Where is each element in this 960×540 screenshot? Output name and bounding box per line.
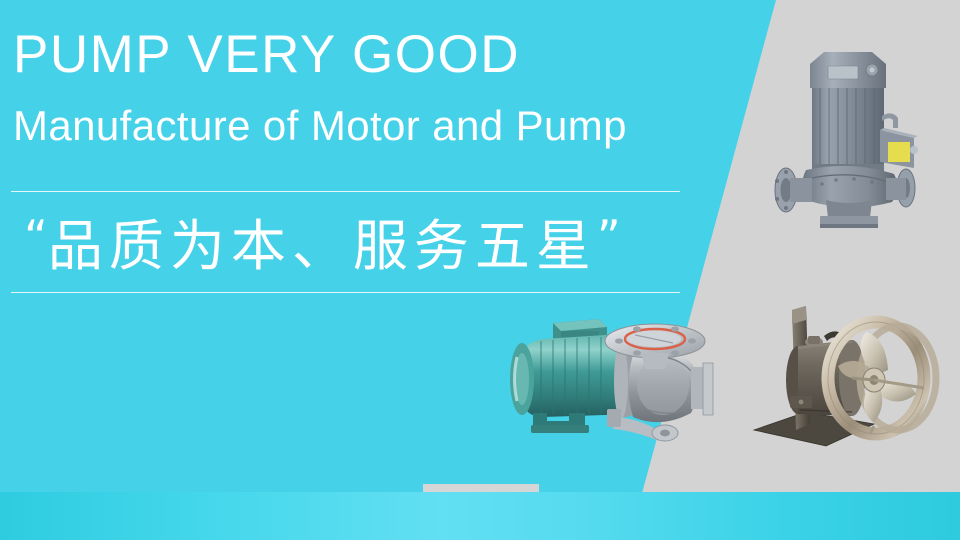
product-image-submersible-mixer [748,292,943,467]
bottom-band-notch [423,484,539,492]
banner-subheadline: Manufacture of Motor and Pump [13,100,627,152]
divider-line-bottom [11,292,680,293]
banner-headline: PUMP VERY GOOD [13,24,520,86]
banner-slogan: “品质为本、服务五星” [24,205,621,278]
slogan-close-quote: ” [597,210,621,264]
promo-banner: PUMP VERY GOOD Manufacture of Motor and … [0,0,960,540]
slogan-chinese-text: 品质为本、服务五星 [48,214,597,278]
divider-line-top [11,191,680,192]
headline-text-block: PUMP VERY GOOD Manufacture of Motor and … [0,0,760,320]
product-image-horizontal-centrifugal-pump [495,305,730,470]
product-image-vertical-inline-pipeline-pump [762,38,942,243]
bottom-gradient-band [0,492,960,540]
slogan-open-quote: “ [24,210,48,264]
